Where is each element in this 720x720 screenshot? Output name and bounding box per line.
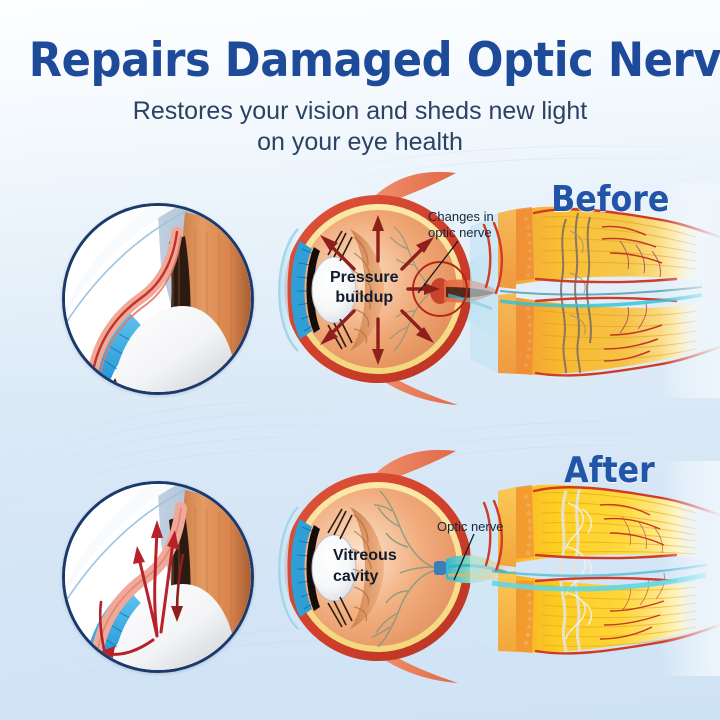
pressure-label-line-2: buildup [330, 288, 399, 308]
before-angle-inset [62, 203, 254, 395]
open-flow-illustration [65, 484, 251, 670]
vitreous-cavity-label: Vitreous cavity [333, 545, 397, 587]
after-nerve-diagram [470, 461, 720, 676]
after-label: After [564, 453, 655, 489]
page-title: Repairs Damaged Optic Nerves [29, 34, 691, 88]
subtitle-line-1: Restores your vision and sheds new light [0, 96, 720, 127]
angle-closure-illustration [65, 206, 251, 392]
vitreous-label-line-1: Vitreous [333, 545, 397, 566]
poster-canvas: Repairs Damaged Optic Nerves Restores yo… [0, 0, 720, 720]
vitreous-label-line-2: cavity [333, 566, 397, 587]
after-angle-inset [62, 481, 254, 673]
subtitle-line-2: on your eye health [0, 127, 720, 158]
pressure-label-line-1: Pressure [330, 268, 399, 288]
optic-nerve-callout-leader-line [430, 530, 490, 588]
changes-callout-line-1: Changes in [428, 209, 494, 225]
before-label: Before [551, 182, 669, 218]
page-subtitle: Restores your vision and sheds new light… [0, 96, 720, 158]
healthy-optic-nerve-illustration [470, 461, 720, 676]
changes-callout-leader-line [400, 235, 470, 305]
pressure-buildup-label: Pressure buildup [330, 268, 399, 308]
